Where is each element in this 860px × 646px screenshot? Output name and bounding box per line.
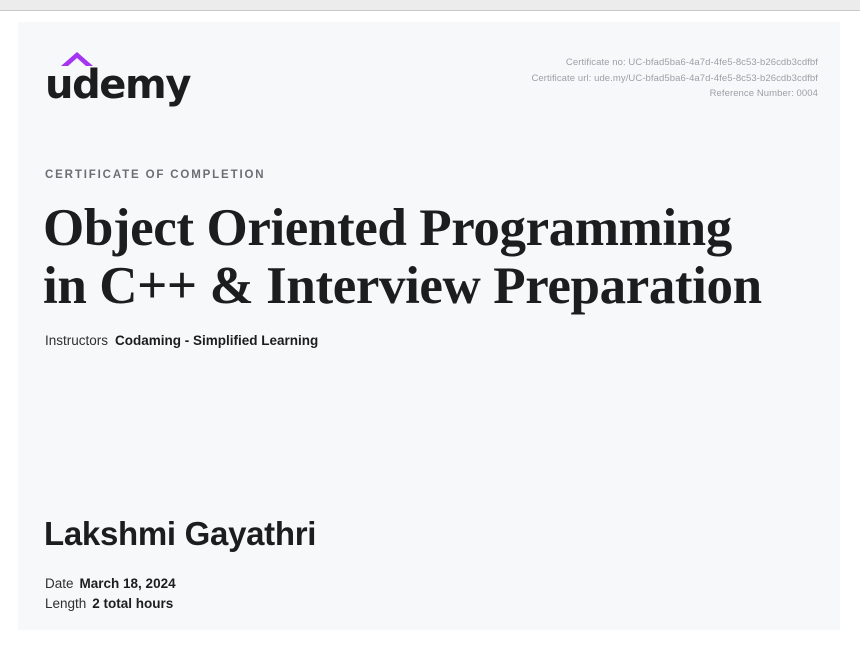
reference-number: Reference Number: 0004 xyxy=(531,86,818,102)
date-row: DateMarch 18, 2024 xyxy=(45,574,176,594)
course-title-line-2: in C++ & Interview Preparation xyxy=(43,257,823,315)
instructors-names: Codaming - Simplified Learning xyxy=(115,333,318,348)
udemy-wordmark: udemy xyxy=(45,65,190,105)
instructors-row: InstructorsCodaming - Simplified Learnin… xyxy=(45,331,318,350)
udemy-logo: udemy xyxy=(45,50,190,105)
length-label: Length xyxy=(45,596,86,611)
instructors-label: Instructors xyxy=(45,333,108,348)
window-top-bar xyxy=(0,0,860,11)
length-row: Length2 total hours xyxy=(45,594,176,614)
certificate-card: udemy Certificate no: UC-bfad5ba6-4a7d-4… xyxy=(18,22,840,630)
length-value: 2 total hours xyxy=(92,596,173,611)
certificate-no: Certificate no: UC-bfad5ba6-4a7d-4fe5-8c… xyxy=(531,55,818,71)
course-title-line-1: Object Oriented Programming xyxy=(43,199,823,257)
course-title: Object Oriented Programming in C++ & Int… xyxy=(43,199,823,315)
certificate-url: Certificate url: ude.my/UC-bfad5ba6-4a7d… xyxy=(531,71,818,87)
certificate-viewport: udemy Certificate no: UC-bfad5ba6-4a7d-4… xyxy=(0,0,860,646)
recipient-name: Lakshmi Gayathri xyxy=(44,516,316,552)
certificate-details: DateMarch 18, 2024 Length2 total hours xyxy=(45,574,176,614)
certificate-metadata: Certificate no: UC-bfad5ba6-4a7d-4fe5-8c… xyxy=(531,55,818,102)
date-label: Date xyxy=(45,576,74,591)
certificate-eyebrow: CERTIFICATE OF COMPLETION xyxy=(45,169,265,181)
date-value: March 18, 2024 xyxy=(80,576,176,591)
